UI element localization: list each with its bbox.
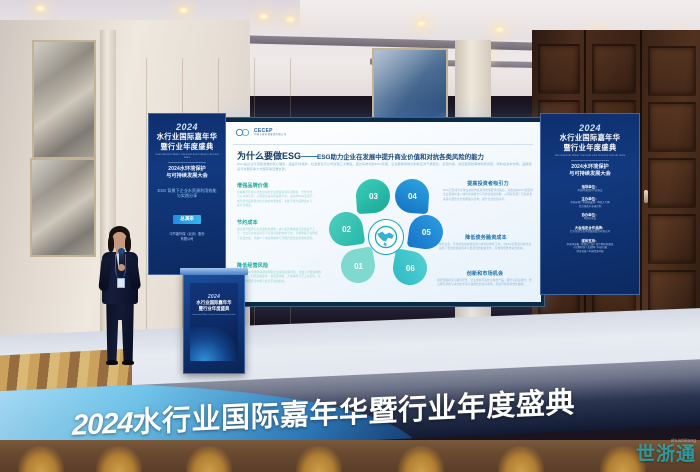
petal-01[interactable]: 01 — [338, 246, 377, 285]
door-panel — [648, 158, 696, 208]
globe-icon — [368, 219, 404, 255]
stage-led-year: 2024 — [72, 407, 133, 442]
banner-section: 媒体支持： 中国环境报 / 中国化工报 / 新华网环保频道 人民网环保 / 央视… — [546, 238, 634, 254]
podium-wave-graphic — [190, 327, 238, 361]
block-heading: 提高投资者吸引力 — [443, 180, 533, 187]
slide-header-rule — [233, 144, 533, 145]
conference-photo: CECEP 中国节能环保集团有限公司 为什么要做ESG——ESG助力企业在发展中… — [0, 0, 700, 472]
door-panel — [648, 214, 696, 264]
carpet-motif — [186, 446, 232, 472]
block-body: 绿色信贷、可持续发展挂钩贷款与绿色债券等工具，为ESG表现优异的企业提供了更低的… — [439, 243, 533, 252]
slide-title-sub: ESG助力企业在发展中提升商业价值和对抗各类风险的能力 — [317, 154, 484, 161]
petal-label: 03 — [369, 192, 378, 201]
block-heading: 节约成本 — [237, 219, 319, 226]
globe-glyph — [373, 224, 399, 250]
banner-topic: ESG 背景下企业水资源利用效能 与实践分享 — [153, 188, 221, 200]
petal-label: 06 — [406, 264, 415, 273]
speaker-badge: 总演来 — [173, 215, 201, 224]
block-body: 通过提升能源与水资源利用效率、减少废弃物排放与优化生产工艺，企业可以在运营环节实… — [237, 228, 319, 241]
slide-block-right-2: 降低债务融资成本 绿色信贷、可持续发展挂钩贷款与绿色债券等工具，为ESG表现优异… — [439, 234, 533, 252]
downlight-icon — [285, 16, 296, 23]
petal-label: 02 — [342, 225, 351, 234]
banner-subtitle: 2024水环境保护 与可持续发展大会 — [546, 164, 634, 179]
downlight-icon — [35, 5, 46, 12]
podium-english-title: International Water Carnival and Industr… — [190, 314, 238, 316]
banner-section: 指导单位： 中国环境保护产业协会 — [546, 184, 634, 193]
block-heading: 创新和市场机会 — [437, 270, 533, 277]
petal-label: 04 — [408, 192, 417, 201]
floor-carpet — [0, 440, 700, 472]
door-panel — [648, 102, 696, 152]
speaker — [92, 224, 148, 372]
petal-label: 05 — [422, 228, 431, 237]
speaker-hair-side-left — [108, 236, 114, 252]
slide-title: 为什么要做ESG——ESG助力企业在发展中提升商业价值和对抗各类风险的能力 — [237, 149, 484, 162]
door-panel — [538, 44, 580, 94]
banner-year: 2024 — [153, 122, 221, 132]
petal-label: 01 — [354, 262, 363, 271]
block-body: 围绕低碳转型与循环经济，企业能够开发出全新的产品、服务与商业模式，抢占绿色消费与… — [437, 279, 533, 288]
block-heading: 增强品牌价值 — [237, 182, 313, 189]
banner-divider — [168, 162, 206, 163]
podium-top-surface — [180, 268, 248, 275]
cecep-logo-text: CECEP 中国节能环保集团有限公司 — [254, 129, 286, 137]
downlight-icon — [416, 20, 427, 27]
banner-year: 2024 — [546, 123, 634, 133]
petal-03[interactable]: 03 — [355, 178, 391, 214]
section-value: 中国水协会 — [546, 217, 634, 221]
speaker-affiliation: 中节能环保（北京）股份 有限公司 — [153, 232, 221, 242]
slide-title-main: 为什么要做ESG — [237, 151, 301, 161]
left-rollup-banner: 2024 水行业国际嘉年华 暨行业年度盛典 International Wate… — [148, 113, 226, 275]
cecep-logo: CECEP 中国节能环保集团有限公司 — [235, 128, 286, 137]
microphone-head-icon — [118, 248, 125, 254]
banner-english-title: International Water Carnival and Industr… — [546, 154, 634, 157]
petal-04[interactable]: 04 — [394, 178, 430, 214]
section-value: 中国水网 / 中国固废网 / 中国大气网 北京绿色产业研究院 — [546, 201, 634, 208]
section-value: 中国环境保护产业协会 — [546, 189, 634, 193]
speaker-legs — [105, 302, 135, 362]
block-heading: 降低债务融资成本 — [439, 234, 533, 241]
downlight-icon — [494, 26, 505, 33]
petal-06[interactable]: 06 — [390, 248, 429, 287]
slide-block-right-3: 创新和市场机会 围绕低碳转型与循环经济，企业能够开发出全新的产品、服务与商业模式… — [437, 270, 533, 288]
section-value: 中国环境报 / 中国化工报 / 新华网环保频道 人民网环保 / 央视网 / 科技… — [546, 243, 634, 254]
banner-title: 水行业国际嘉年华 暨行业年度盛典 — [546, 133, 634, 152]
cecep-logo-icon — [235, 128, 251, 137]
podium-title: 水行业国际嘉年华 暨行业年度盛典 — [190, 300, 238, 312]
section-value: 北京首创生态环保集团股份有限公司 — [546, 230, 634, 234]
slide-lede-paragraph: ESG是企业可持续发展的核心理念，涵盖环境保护、社会责任与公司治理三大维度。通过… — [237, 162, 533, 172]
door-panel — [592, 44, 636, 94]
speaker-hair-side-right — [125, 236, 131, 252]
petal-02[interactable]: 02 — [327, 210, 365, 248]
block-body: 积极履行环境与社会责任的企业更容易获得消费者、合作伙伴与公众的认同，从而建立良好… — [237, 191, 313, 209]
carpet-motif — [18, 446, 64, 472]
speaker-shoe-left — [106, 360, 118, 365]
banner-divider — [571, 160, 609, 161]
block-body: 完善的ESG管理体系能够帮助企业提前识别环境、社会与治理领域的潜在风险，包括法规… — [237, 271, 323, 284]
speaker-name-badge — [117, 278, 125, 288]
esg-petal-diagram: 01 02 03 04 05 06 — [333, 177, 437, 295]
watermark-sub: shuizhitong — [671, 438, 696, 444]
banner-section: 主办单位： 中国水网 / 中国固废网 / 中国大气网 北京绿色产业研究院 — [546, 196, 634, 208]
banner-section: 协办单位： 中国水协会 — [546, 212, 634, 221]
speaker-hand — [118, 264, 125, 271]
downlight-icon — [178, 7, 189, 14]
block-body: ESG已经成为全球主流机构投资者的重要评估指标。具备良好ESG表现的企业更容易进… — [443, 189, 533, 202]
speaker-shoe-right — [122, 360, 134, 365]
carpet-motif — [498, 446, 544, 472]
presentation-screen: CECEP 中国节能环保集团有限公司 为什么要做ESG——ESG助力企业在发展中… — [221, 117, 545, 307]
slide-block-left-3: 降低经营风险 完善的ESG管理体系能够帮助企业提前识别环境、社会与治理领域的潜在… — [237, 262, 323, 284]
banner-english-title: International Water Carnival and Industr… — [153, 153, 221, 159]
block-heading: 降低经营风险 — [237, 262, 323, 269]
slide-title-dash: —— — [301, 151, 317, 161]
door-panel — [648, 46, 696, 96]
right-rollup-banner: 2024 水行业国际嘉年华 暨行业年度盛典 International Wate… — [540, 113, 640, 295]
slide-block-left-1: 增强品牌价值 积极履行环境与社会责任的企业更容易获得消费者、合作伙伴与公众的认同… — [237, 182, 313, 209]
podium-graphic: 2024 水行业国际嘉年华 暨行业年度盛典 International Wate… — [190, 283, 238, 361]
carpet-motif — [96, 446, 142, 472]
banner-section: 大会指定合作品牌： 北京首创生态环保集团股份有限公司 — [546, 225, 634, 234]
banner-title: 水行业国际嘉年华 暨行业年度盛典 — [153, 132, 221, 151]
wall-mirror-left — [32, 40, 96, 159]
downlight-icon — [258, 13, 269, 20]
podium: 2024 水行业国际嘉年华 暨行业年度盛典 International Wate… — [183, 272, 245, 374]
slide-block-left-2: 节约成本 通过提升能源与水资源利用效率、减少废弃物排放与优化生产工艺，企业可以在… — [237, 219, 319, 241]
carpet-motif — [296, 446, 342, 472]
cecep-name-sub: 中国节能环保集团有限公司 — [254, 134, 286, 137]
wall-mirror-left-lower — [30, 158, 96, 257]
carpet-motif — [398, 446, 444, 472]
slide-block-right-1: 提高投资者吸引力 ESG已经成为全球主流机构投资者的重要评估指标。具备良好ESG… — [443, 180, 533, 202]
slide-content: CECEP 中国节能环保集团有限公司 为什么要做ESG——ESG助力企业在发展中… — [225, 122, 541, 302]
banner-subtitle: 2024水环境保护 与可持续发展大会 — [153, 166, 221, 181]
door-handle[interactable] — [644, 190, 648, 203]
